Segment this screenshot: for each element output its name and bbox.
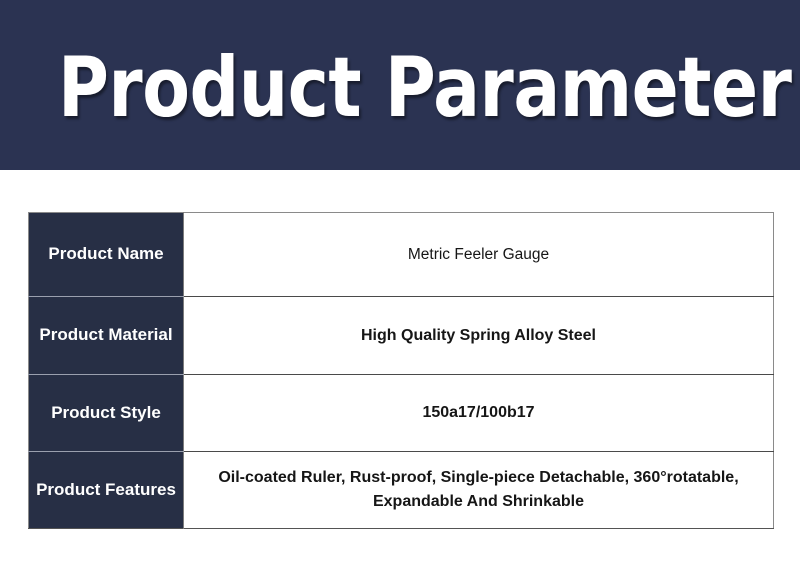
header-banner: Product Parameter bbox=[0, 0, 800, 170]
spec-label-product-features: Product Features bbox=[29, 452, 184, 529]
table-row: Product Material High Quality Spring All… bbox=[29, 297, 774, 375]
spec-value-product-style: 150a17/100b17 bbox=[184, 375, 774, 452]
table-row: Product Name Metric Feeler Gauge bbox=[29, 213, 774, 297]
spec-label-product-material: Product Material bbox=[29, 297, 184, 375]
spec-value-product-name: Metric Feeler Gauge bbox=[184, 213, 774, 297]
page-title: Product Parameter bbox=[58, 40, 700, 136]
spec-value-product-features: Oil-coated Ruler, Rust-proof, Single-pie… bbox=[184, 452, 774, 529]
spec-value-product-material: High Quality Spring Alloy Steel bbox=[184, 297, 774, 375]
product-parameter-page: Product Parameter Product Name Metric Fe… bbox=[0, 0, 800, 569]
spec-label-product-name: Product Name bbox=[29, 213, 184, 297]
table-row: Product Features Oil-coated Ruler, Rust-… bbox=[29, 452, 774, 529]
table-body: Product Name Metric Feeler Gauge Product… bbox=[29, 213, 774, 529]
table-row: Product Style 150a17/100b17 bbox=[29, 375, 774, 452]
spec-label-product-style: Product Style bbox=[29, 375, 184, 452]
product-parameter-table: Product Name Metric Feeler Gauge Product… bbox=[28, 212, 774, 529]
